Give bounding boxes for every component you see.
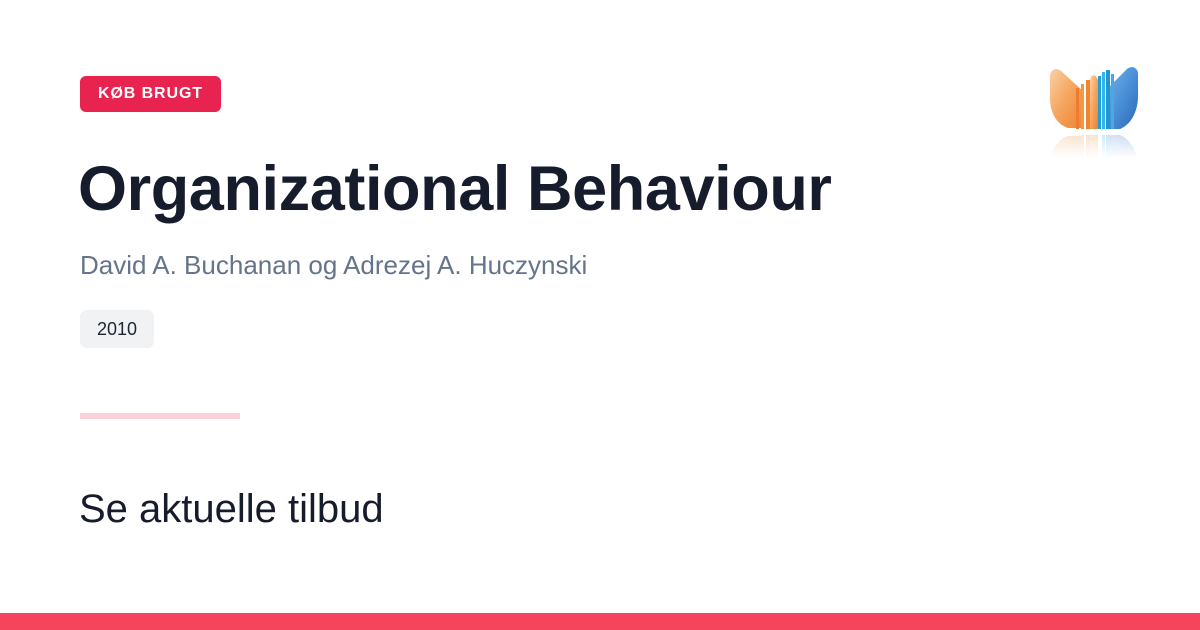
status-badge: KØB BRUGT	[80, 76, 221, 112]
butterfly-book-logo	[1046, 52, 1142, 158]
publication-year-chip: 2010	[80, 310, 154, 348]
publication-year-label: 2010	[97, 319, 137, 340]
bottom-accent-bar	[0, 613, 1200, 630]
section-divider	[80, 413, 240, 419]
status-badge-label: KØB BRUGT	[98, 85, 203, 103]
share-card: KØB BRUGT Organizational Behaviour David…	[0, 0, 1200, 630]
cta-text: Se aktuelle tilbud	[79, 483, 384, 535]
page-title: Organizational Behaviour	[78, 152, 832, 226]
book-authors: David A. Buchanan og Adrezej A. Huczynsk…	[80, 248, 587, 282]
